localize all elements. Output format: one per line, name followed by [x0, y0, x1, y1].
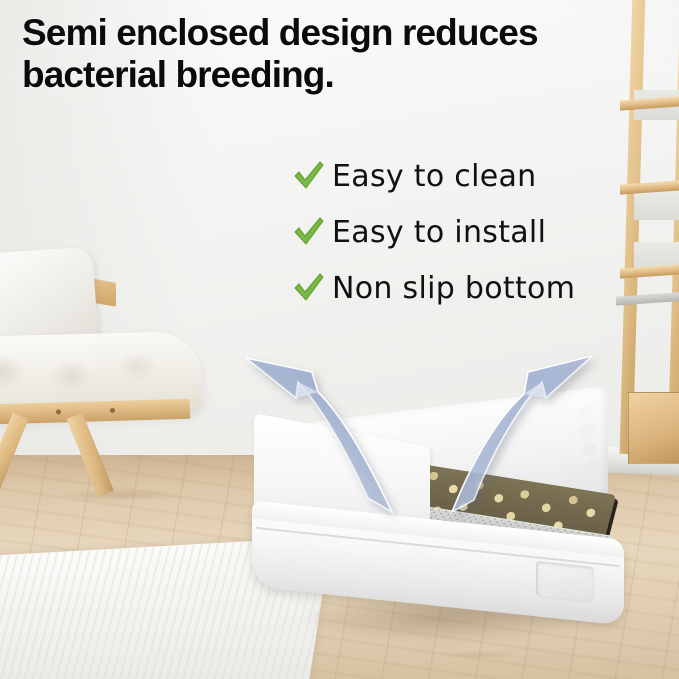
- feature-item-easy-to-clean: Easy to clean: [292, 148, 652, 204]
- feature-label: Easy to install: [332, 215, 546, 250]
- airflow-arrows: [0, 0, 679, 679]
- feature-label: Easy to clean: [332, 159, 537, 194]
- headline-line-2: bacterial breeding.: [22, 54, 672, 96]
- feature-label: Non slip bottom: [332, 271, 575, 306]
- check-icon: [292, 271, 326, 305]
- product-marketing-image: Semi enclosed design reduces bacterial b…: [0, 0, 679, 679]
- check-icon: [292, 215, 326, 249]
- feature-list: Easy to clean Easy to install Non slip b…: [292, 148, 652, 316]
- headline-line-1: Semi enclosed design reduces: [22, 12, 672, 54]
- headline: Semi enclosed design reduces bacterial b…: [22, 12, 672, 96]
- check-icon: [292, 159, 326, 193]
- feature-item-easy-to-install: Easy to install: [292, 204, 652, 260]
- airflow-arrow-left: [246, 358, 392, 512]
- feature-item-non-slip-bottom: Non slip bottom: [292, 260, 652, 316]
- airflow-arrow-right: [452, 356, 592, 512]
